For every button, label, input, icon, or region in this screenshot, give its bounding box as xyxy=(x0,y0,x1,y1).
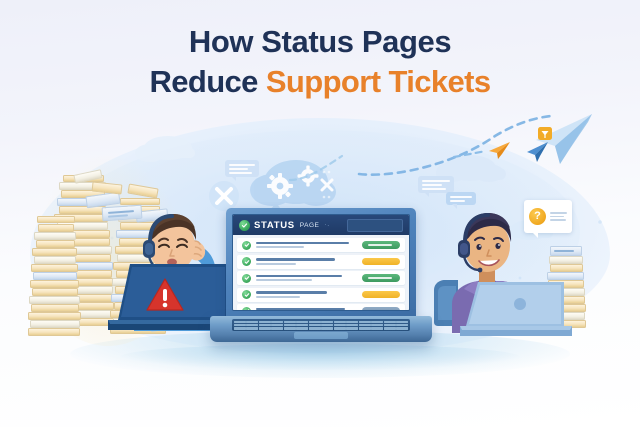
status-badge xyxy=(362,258,400,266)
table-row[interactable] xyxy=(237,304,405,311)
status-page-brand-dots: ·. xyxy=(324,222,330,228)
laptop-trackpad xyxy=(294,332,348,339)
status-badge xyxy=(362,291,400,299)
table-row[interactable] xyxy=(237,288,405,302)
paper-plane-icon-small-blue xyxy=(524,140,550,164)
page-title: How Status Pages Reduce Support Tickets xyxy=(0,22,640,102)
warning-triangle-icon xyxy=(146,278,184,312)
check-circle-icon xyxy=(242,290,251,299)
plane-trail-dashes xyxy=(452,148,490,162)
illustration-canvas: How Status Pages Reduce Support Tickets xyxy=(0,0,640,427)
question-card-lines xyxy=(550,212,567,221)
chat-bubble-icon-left xyxy=(225,160,259,177)
paper-plane-icon-small-orange xyxy=(486,140,512,160)
laptop-base xyxy=(210,316,432,342)
status-search-box[interactable] xyxy=(347,219,403,232)
laptop-lid: STATUS PAGE ·. xyxy=(226,208,416,318)
status-page-laptop: STATUS PAGE ·. xyxy=(210,208,432,353)
title-line-2-accent: Support Tickets xyxy=(266,64,491,99)
status-page-brand-main: STATUS xyxy=(254,220,295,231)
status-page-header: STATUS PAGE ·. xyxy=(233,215,409,235)
row-label xyxy=(256,291,357,298)
check-circle-icon xyxy=(239,220,250,231)
status-page-brand-sub: PAGE xyxy=(300,220,320,231)
laptop-keyboard xyxy=(232,319,410,331)
title-line-1: How Status Pages xyxy=(0,22,640,62)
row-label xyxy=(256,242,357,249)
title-line-2-prefix: Reduce xyxy=(149,64,265,99)
status-page-screen: STATUS PAGE ·. xyxy=(232,214,410,311)
status-badge xyxy=(362,241,400,249)
check-circle-icon xyxy=(242,241,251,250)
row-label xyxy=(256,308,357,311)
row-label xyxy=(256,258,357,265)
table-row[interactable] xyxy=(237,238,405,252)
row-label xyxy=(256,275,357,282)
table-row[interactable] xyxy=(237,255,405,269)
check-circle-icon xyxy=(242,274,251,283)
dashed-arc-secondary xyxy=(288,150,348,186)
table-row[interactable] xyxy=(237,271,405,285)
status-page-rows xyxy=(233,235,409,310)
right-agent-laptop xyxy=(460,274,572,336)
check-circle-icon xyxy=(242,307,251,312)
check-badge-icon xyxy=(538,127,552,143)
status-badge xyxy=(362,307,400,311)
check-circle-icon xyxy=(242,257,251,266)
title-line-2: Reduce Support Tickets xyxy=(0,62,640,102)
status-badge xyxy=(362,274,400,282)
